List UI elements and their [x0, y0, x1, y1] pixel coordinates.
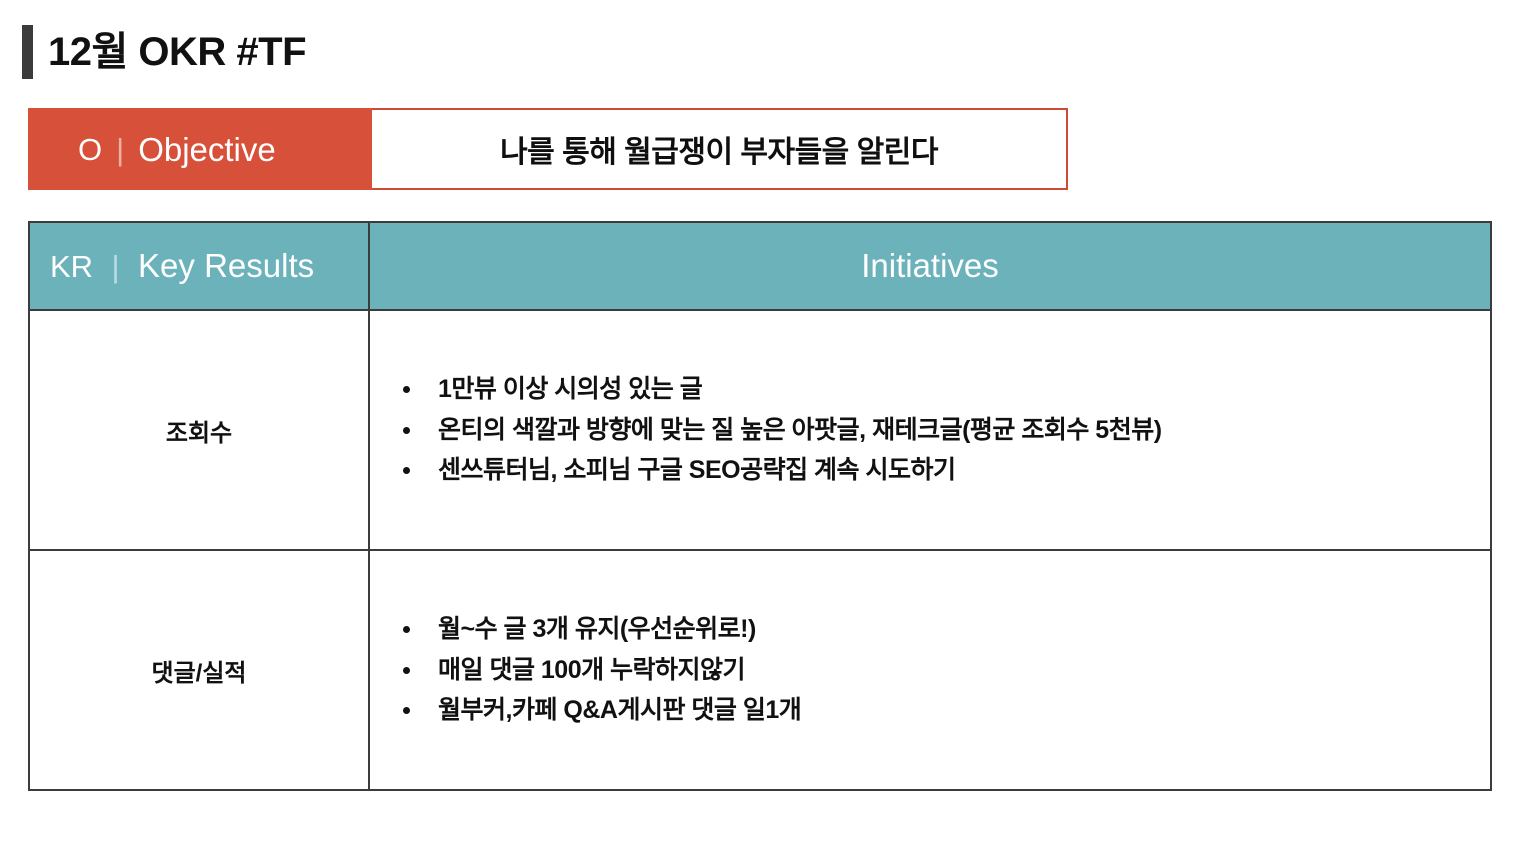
initiatives-list: 1만뷰 이상 시의성 있는 글 온티의 색깔과 방향에 맞는 질 높은 아팟글,…	[394, 369, 1472, 491]
key-result-name: 댓글/실적	[152, 660, 247, 687]
list-item: 1만뷰 이상 시의성 있는 글	[394, 369, 1472, 410]
list-item: 온티의 색깔과 방향에 맞는 질 높은 아팟글, 재테크글(평균 조회수 5천뷰…	[394, 410, 1472, 451]
title-accent-bar	[22, 25, 33, 79]
initiatives-cell: 월~수 글 3개 유지(우선순위로!) 매일 댓글 100개 누락하지않기 월부…	[369, 550, 1491, 790]
list-item: 센쓰튜터님, 소피님 구글 SEO공략집 계속 시도하기	[394, 450, 1472, 491]
objective-badge-word: Objective	[138, 133, 276, 166]
key-result-name: 조회수	[166, 420, 232, 447]
key-result-name-cell: 댓글/실적	[29, 550, 369, 790]
initiatives-list: 월~수 글 3개 유지(우선순위로!) 매일 댓글 100개 누락하지않기 월부…	[394, 609, 1472, 731]
kr-header-word: Key Results	[138, 247, 314, 284]
list-item: 월~수 글 3개 유지(우선순위로!)	[394, 609, 1472, 650]
objective-row: O | Objective 나를 통해 월급쟁이 부자들을 알린다	[28, 108, 1068, 190]
objective-badge-letter: O	[78, 134, 102, 165]
page-title: 12월 OKR #TF	[22, 22, 306, 82]
table-row: 조회수 1만뷰 이상 시의성 있는 글 온티의 색깔과 방향에 맞는 질 높은 …	[29, 310, 1491, 550]
key-result-name-cell: 조회수	[29, 310, 369, 550]
objective-badge-separator: |	[116, 134, 124, 165]
table-header-row: KR | Key Results Initiatives	[29, 222, 1491, 310]
objective-value-text: 나를 통해 월급쟁이 부자들을 알린다	[500, 127, 938, 171]
okr-slide: 12월 OKR #TF O | Objective 나를 통해 월급쟁이 부자들…	[0, 0, 1520, 855]
list-item: 매일 댓글 100개 누락하지않기	[394, 650, 1472, 691]
column-header-key-results: KR | Key Results	[29, 222, 369, 310]
kr-header-separator: |	[112, 249, 120, 284]
title-text: 12월 OKR #TF	[48, 32, 306, 72]
column-header-initiatives: Initiatives	[369, 222, 1491, 310]
objective-value-box: 나를 통해 월급쟁이 부자들을 알린다	[372, 108, 1068, 190]
table-row: 댓글/실적 월~수 글 3개 유지(우선순위로!) 매일 댓글 100개 누락하…	[29, 550, 1491, 790]
objective-badge: O | Objective	[28, 108, 372, 190]
kr-header-letters: KR	[50, 249, 93, 284]
list-item: 월부커,카페 Q&A게시판 댓글 일1개	[394, 690, 1472, 731]
initiatives-header-text: Initiatives	[861, 247, 999, 284]
initiatives-cell: 1만뷰 이상 시의성 있는 글 온티의 색깔과 방향에 맞는 질 높은 아팟글,…	[369, 310, 1491, 550]
okr-table: KR | Key Results Initiatives 조회수 1만뷰 이상 …	[28, 221, 1492, 791]
